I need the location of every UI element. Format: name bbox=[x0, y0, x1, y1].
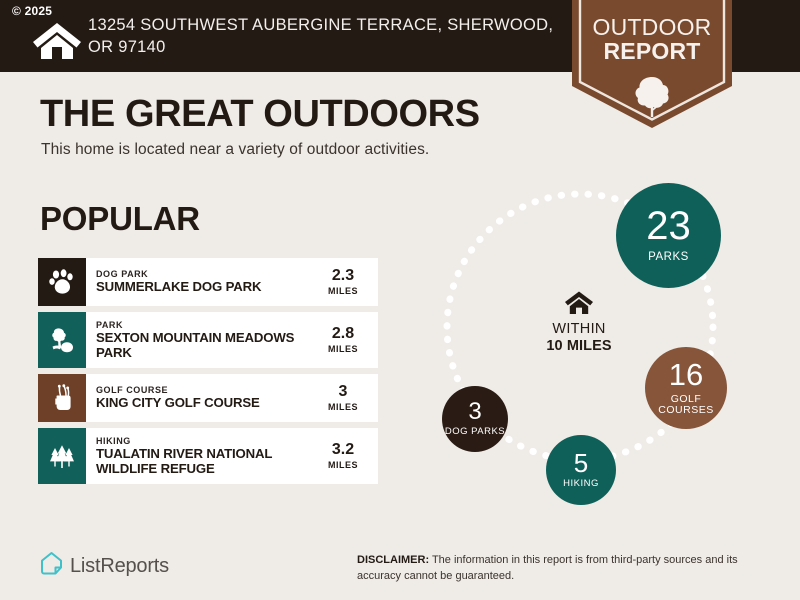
park-tree-icon bbox=[38, 312, 86, 368]
list-item-category: GOLF COURSE bbox=[96, 385, 312, 395]
center-line-2: 10 MILES bbox=[524, 338, 634, 355]
property-address: 13254 SOUTHWEST AUBERGINE TERRACE, SHERW… bbox=[88, 14, 558, 59]
list-item[interactable]: PARK SEXTON MOUNTAIN MEADOWS PARK 2.8 MI… bbox=[38, 312, 378, 368]
listreports-logo[interactable]: ListReports bbox=[40, 551, 169, 581]
page-subtitle: This home is located near a variety of o… bbox=[41, 141, 429, 159]
list-item-distance: 2.3 MILES bbox=[312, 258, 378, 306]
bubble-value: 23 bbox=[646, 207, 691, 245]
bubble-label: HIKING bbox=[563, 479, 599, 489]
list-item-name: KING CITY GOLF COURSE bbox=[96, 396, 312, 411]
distance-value: 2.3 bbox=[332, 268, 354, 284]
home-icon bbox=[31, 20, 83, 60]
copyright-text: © 2025 bbox=[12, 4, 52, 18]
golf-bag-icon bbox=[38, 374, 86, 422]
list-item-category: HIKING bbox=[96, 436, 312, 446]
page-title: THE GREAT OUTDOORS bbox=[40, 93, 480, 136]
list-item-name: TUALATIN RIVER NATIONAL WILDLIFE REFUGE bbox=[96, 447, 312, 477]
bubble-value: 3 bbox=[468, 401, 481, 424]
listreports-house-icon bbox=[40, 551, 63, 581]
within-10-miles-diagram: WITHIN 10 MILES 23 PARKS 16 GOLF COURSES… bbox=[420, 165, 790, 515]
distance-value: 3 bbox=[339, 384, 348, 400]
bubble-label: GOLF COURSES bbox=[645, 394, 727, 416]
badge-line-2: REPORT bbox=[572, 40, 732, 64]
bubble-label: DOG PARKS bbox=[445, 427, 505, 437]
badge-line-1: OUTDOOR bbox=[572, 16, 732, 40]
badge-label: OUTDOOR REPORT bbox=[572, 16, 732, 64]
tree-icon bbox=[630, 74, 674, 118]
list-item-name: SEXTON MOUNTAIN MEADOWS PARK bbox=[96, 331, 312, 361]
diagram-center-label: WITHIN 10 MILES bbox=[524, 290, 634, 354]
bubble-value: 16 bbox=[669, 360, 703, 389]
distance-unit: MILES bbox=[328, 460, 358, 470]
list-item-distance: 2.8 MILES bbox=[312, 312, 378, 368]
list-item-distance: 3.2 MILES bbox=[312, 428, 378, 484]
disclaimer: DISCLAIMER: The information in this repo… bbox=[357, 553, 777, 585]
distance-unit: MILES bbox=[328, 402, 358, 412]
distance-value: 3.2 bbox=[332, 442, 354, 458]
center-line-1: WITHIN bbox=[524, 321, 634, 338]
outdoor-report-page: © 2025 13254 SOUTHWEST AUBERGINE TERRACE… bbox=[0, 0, 800, 600]
home-icon bbox=[564, 290, 594, 315]
distance-unit: MILES bbox=[328, 286, 358, 296]
disclaimer-label: DISCLAIMER: bbox=[357, 554, 429, 566]
distance-unit: MILES bbox=[328, 344, 358, 354]
list-item-category: PARK bbox=[96, 320, 312, 330]
popular-list: DOG PARK SUMMERLAKE DOG PARK 2.3 MILES P… bbox=[38, 258, 378, 490]
bubble-golf-courses[interactable]: 16 GOLF COURSES bbox=[645, 347, 727, 429]
list-item[interactable]: DOG PARK SUMMERLAKE DOG PARK 2.3 MILES bbox=[38, 258, 378, 306]
paw-icon bbox=[38, 258, 86, 306]
list-item-distance: 3 MILES bbox=[312, 374, 378, 422]
list-item[interactable]: GOLF COURSE KING CITY GOLF COURSE 3 MILE… bbox=[38, 374, 378, 422]
list-item-name: SUMMERLAKE DOG PARK bbox=[96, 280, 312, 295]
bubble-dog-parks[interactable]: 3 DOG PARKS bbox=[442, 386, 508, 452]
bubble-parks[interactable]: 23 PARKS bbox=[616, 183, 721, 288]
distance-value: 2.8 bbox=[332, 326, 354, 342]
bubble-label: PARKS bbox=[648, 251, 689, 263]
popular-section-heading: POPULAR bbox=[40, 200, 200, 238]
list-item-category: DOG PARK bbox=[96, 269, 312, 279]
list-item[interactable]: HIKING TUALATIN RIVER NATIONAL WILDLIFE … bbox=[38, 428, 378, 484]
bubble-value: 5 bbox=[574, 451, 588, 476]
listreports-logo-text: ListReports bbox=[70, 555, 169, 578]
pine-trees-icon bbox=[38, 428, 86, 484]
outdoor-report-badge: OUTDOOR REPORT bbox=[572, 0, 732, 128]
bubble-hiking[interactable]: 5 HIKING bbox=[546, 435, 616, 505]
